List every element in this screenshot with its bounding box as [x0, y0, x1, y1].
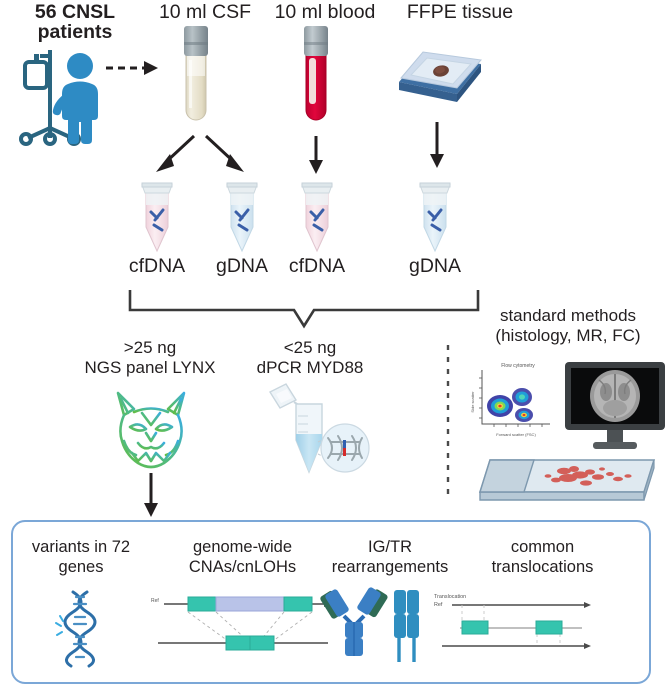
svg-text:Side scatter: Side scatter [470, 391, 475, 413]
translocation-diagram-icon: Translocation Ref [432, 588, 602, 658]
connector-ffpe-down [427, 120, 447, 172]
assay-name-ngs: NGS panel LYNX [70, 358, 230, 377]
microtube-ffpe-gdna-icon [415, 181, 455, 257]
result-label-variants-line1: variants in 72 [16, 538, 146, 556]
cohort-label-line2: patients [10, 22, 140, 44]
svg-text:Ref: Ref [434, 602, 443, 608]
connector-cohort-to-csf [104, 58, 166, 78]
connector-vertical-divider [444, 345, 452, 495]
microtube-csf-gdna-icon [222, 181, 262, 257]
standard-methods-label-line2: (histology, MR, FC) [470, 326, 666, 345]
result-label-cnas-line1: genome-wide [155, 538, 330, 556]
result-label-igtr-line1: IG/TR [315, 538, 465, 556]
dna-double-helix-icon [55, 590, 105, 668]
pcr-tube-with-dna-icon [262, 382, 372, 482]
result-label-variants-line2: genes [16, 558, 146, 576]
svg-text:Forward scatter (FSC): Forward scatter (FSC) [496, 432, 536, 437]
standard-methods-label-line1: standard methods [470, 306, 666, 325]
extract-label-csf-gdna: gDNA [202, 256, 282, 278]
extract-label-blood-cfdna: cfDNA [277, 256, 357, 278]
antibody-receptor-icon [322, 582, 434, 668]
result-label-translocations-line1: common [455, 538, 630, 556]
svg-text:Flow cytometry: Flow cytometry [501, 363, 535, 369]
patient-with-iv-pole-icon [12, 44, 118, 144]
extract-label-csf-cfdna: cfDNA [117, 256, 197, 278]
assay-threshold-ngs: >25 ng [70, 338, 230, 357]
svg-text:Ref: Ref [151, 598, 159, 604]
sample-label-blood: 10 ml blood [255, 2, 395, 24]
connector-csf-split [150, 134, 250, 176]
ffpe-tissue-block-icon [393, 42, 487, 108]
figure-canvas: 56 CNSL patients 10 ml CSF 10 ml blood F… [0, 0, 669, 693]
lynx-head-logo-icon [108, 385, 194, 475]
microtube-blood-cfdna-icon [297, 181, 337, 257]
blood-collection-tube-icon [298, 24, 334, 130]
extract-label-ffpe-gdna: gDNA [395, 256, 475, 278]
connector-blood-down [306, 134, 326, 176]
assay-name-dpcr: dPCR MYD88 [230, 358, 390, 377]
result-label-cnas-line2: CNAs/cnLOHs [155, 558, 330, 576]
microtube-csf-cfdna-icon [137, 181, 177, 257]
connector-ngs-to-results [141, 473, 161, 521]
result-label-translocations-line2: translocations [455, 558, 630, 576]
flow-cytometry-plot-icon: Flow cytometry Side scatter Forward scat… [466, 358, 554, 440]
connector-pooling-bracket [126, 288, 482, 334]
histology-slide-icon [468, 450, 666, 508]
assay-threshold-dpcr: <25 ng [230, 338, 390, 357]
svg-text:Translocation: Translocation [434, 594, 466, 600]
mri-brain-monitor-icon [563, 360, 667, 458]
csf-collection-tube-icon [178, 24, 214, 130]
result-label-igtr-line2: rearrangements [315, 558, 465, 576]
sample-label-ffpe: FFPE tissue [385, 2, 535, 24]
sample-label-csf: 10 ml CSF [140, 2, 270, 24]
copy-number-alteration-diagram-icon: Ref [148, 592, 338, 654]
